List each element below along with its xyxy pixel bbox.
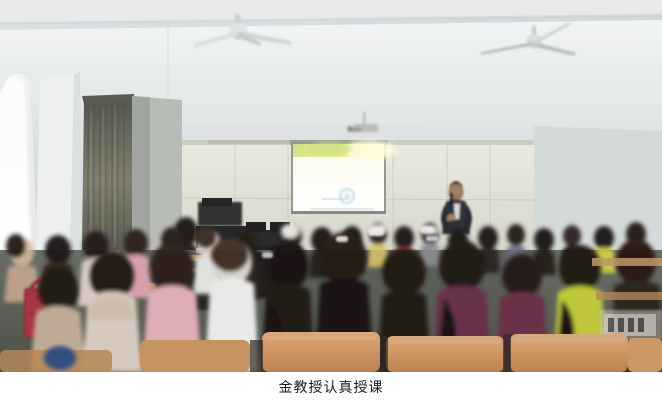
photo-caption: 金教授认真授课 — [279, 381, 384, 395]
screenshot-root: 金教授认真授课 — [0, 0, 662, 403]
classroom-photo — [0, 0, 662, 372]
caption-bar: 金教授认真授课 — [0, 372, 662, 403]
photo-canvas — [0, 0, 662, 372]
